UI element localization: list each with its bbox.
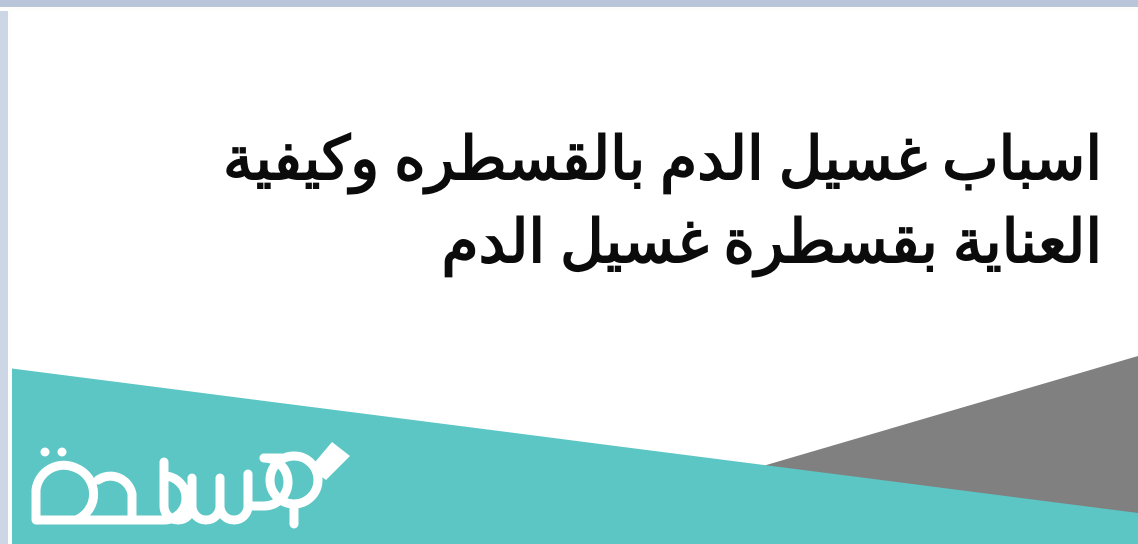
frame-top-inner-edge [0,7,1138,11]
page-title-line-1: اسباب غسيل الدم بالقسطره وكيفية [40,118,1102,201]
page-title: اسباب غسيل الدم بالقسطره وكيفية العناية … [40,118,1102,284]
logo-wordmark-icon [14,428,354,536]
slide-canvas: اسباب غسيل الدم بالقسطره وكيفية العناية … [0,0,1138,544]
frame-top-border [0,0,1138,7]
site-logo[interactable] [14,428,354,536]
frame-left-border [0,7,8,544]
page-title-line-2: العناية بقسطرة غسيل الدم [40,201,1102,284]
frame-left-inner-edge [8,11,12,544]
